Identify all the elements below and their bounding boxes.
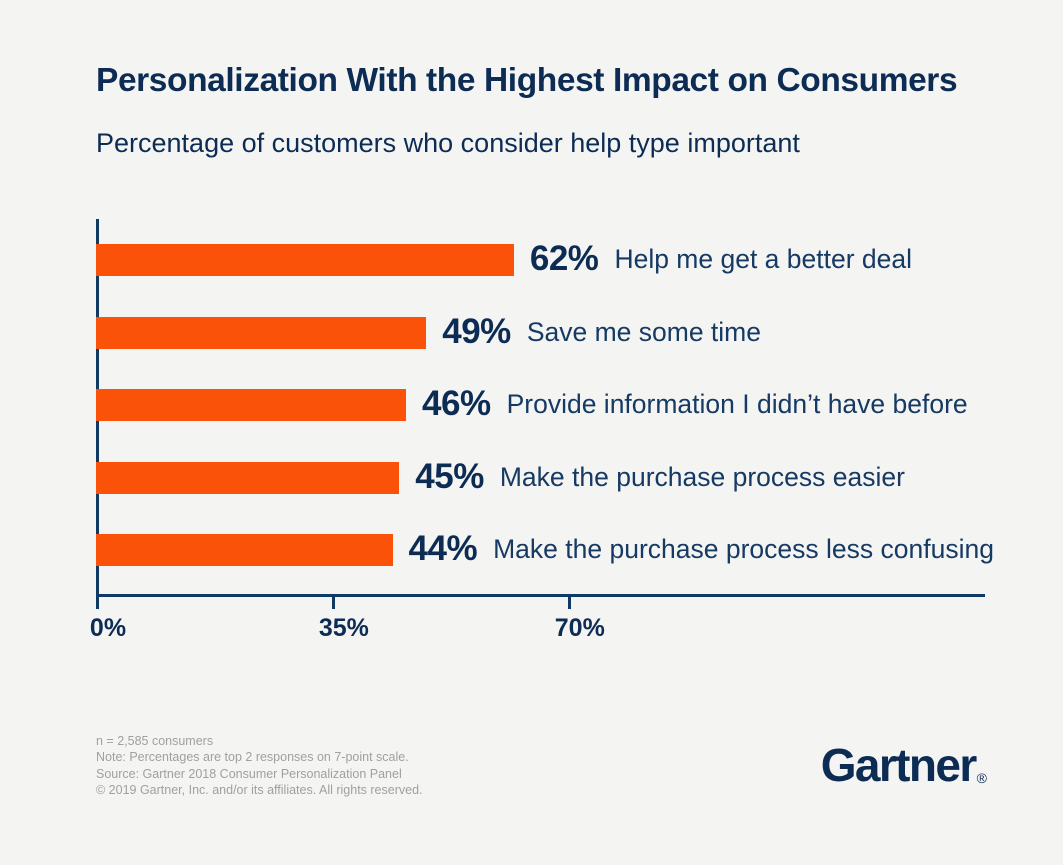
bar-row[interactable]: 49%Save me some time — [96, 317, 1063, 349]
bar-category-label: Make the purchase process easier — [500, 461, 905, 492]
bar[interactable] — [96, 317, 426, 349]
footnotes: n = 2,585 consumers Note: Percentages ar… — [96, 733, 423, 798]
bar-category-label: Save me some time — [527, 316, 761, 347]
bar[interactable] — [96, 462, 399, 494]
bar-row[interactable]: 46%Provide information I didn’t have bef… — [96, 389, 1063, 421]
bar-value-label: 44% — [409, 529, 478, 569]
bar[interactable] — [96, 244, 514, 276]
footnote-note: Note: Percentages are top 2 responses on… — [96, 749, 423, 765]
bar-value-label: 62% — [530, 239, 599, 279]
bar-category-label: Make the purchase process less confusing — [493, 534, 994, 565]
footnote-source: Source: Gartner 2018 Consumer Personaliz… — [96, 766, 423, 782]
bar-value-label: 46% — [422, 384, 491, 424]
bar-category-label: Help me get a better deal — [614, 244, 912, 275]
bar-value-label: 49% — [442, 312, 511, 352]
bar-row[interactable]: 44%Make the purchase process less confus… — [96, 534, 1063, 566]
bar-row[interactable]: 45%Make the purchase process easier — [96, 462, 1063, 494]
bar-value-label: 45% — [415, 457, 484, 497]
bar[interactable] — [96, 389, 406, 421]
footnote-sample-size: n = 2,585 consumers — [96, 733, 423, 749]
footnote-copyright: © 2019 Gartner, Inc. and/or its affiliat… — [96, 782, 423, 798]
chart-page: Personalization With the Highest Impact … — [0, 0, 1063, 865]
bar[interactable] — [96, 534, 393, 566]
gartner-logo: Gartner ® — [821, 742, 987, 788]
bar-row[interactable]: 62%Help me get a better deal — [96, 244, 1063, 276]
bar-category-label: Provide information I didn’t have before — [507, 389, 968, 420]
registered-trademark-icon: ® — [977, 771, 987, 785]
gartner-logo-wordmark: Gartner — [821, 742, 976, 788]
